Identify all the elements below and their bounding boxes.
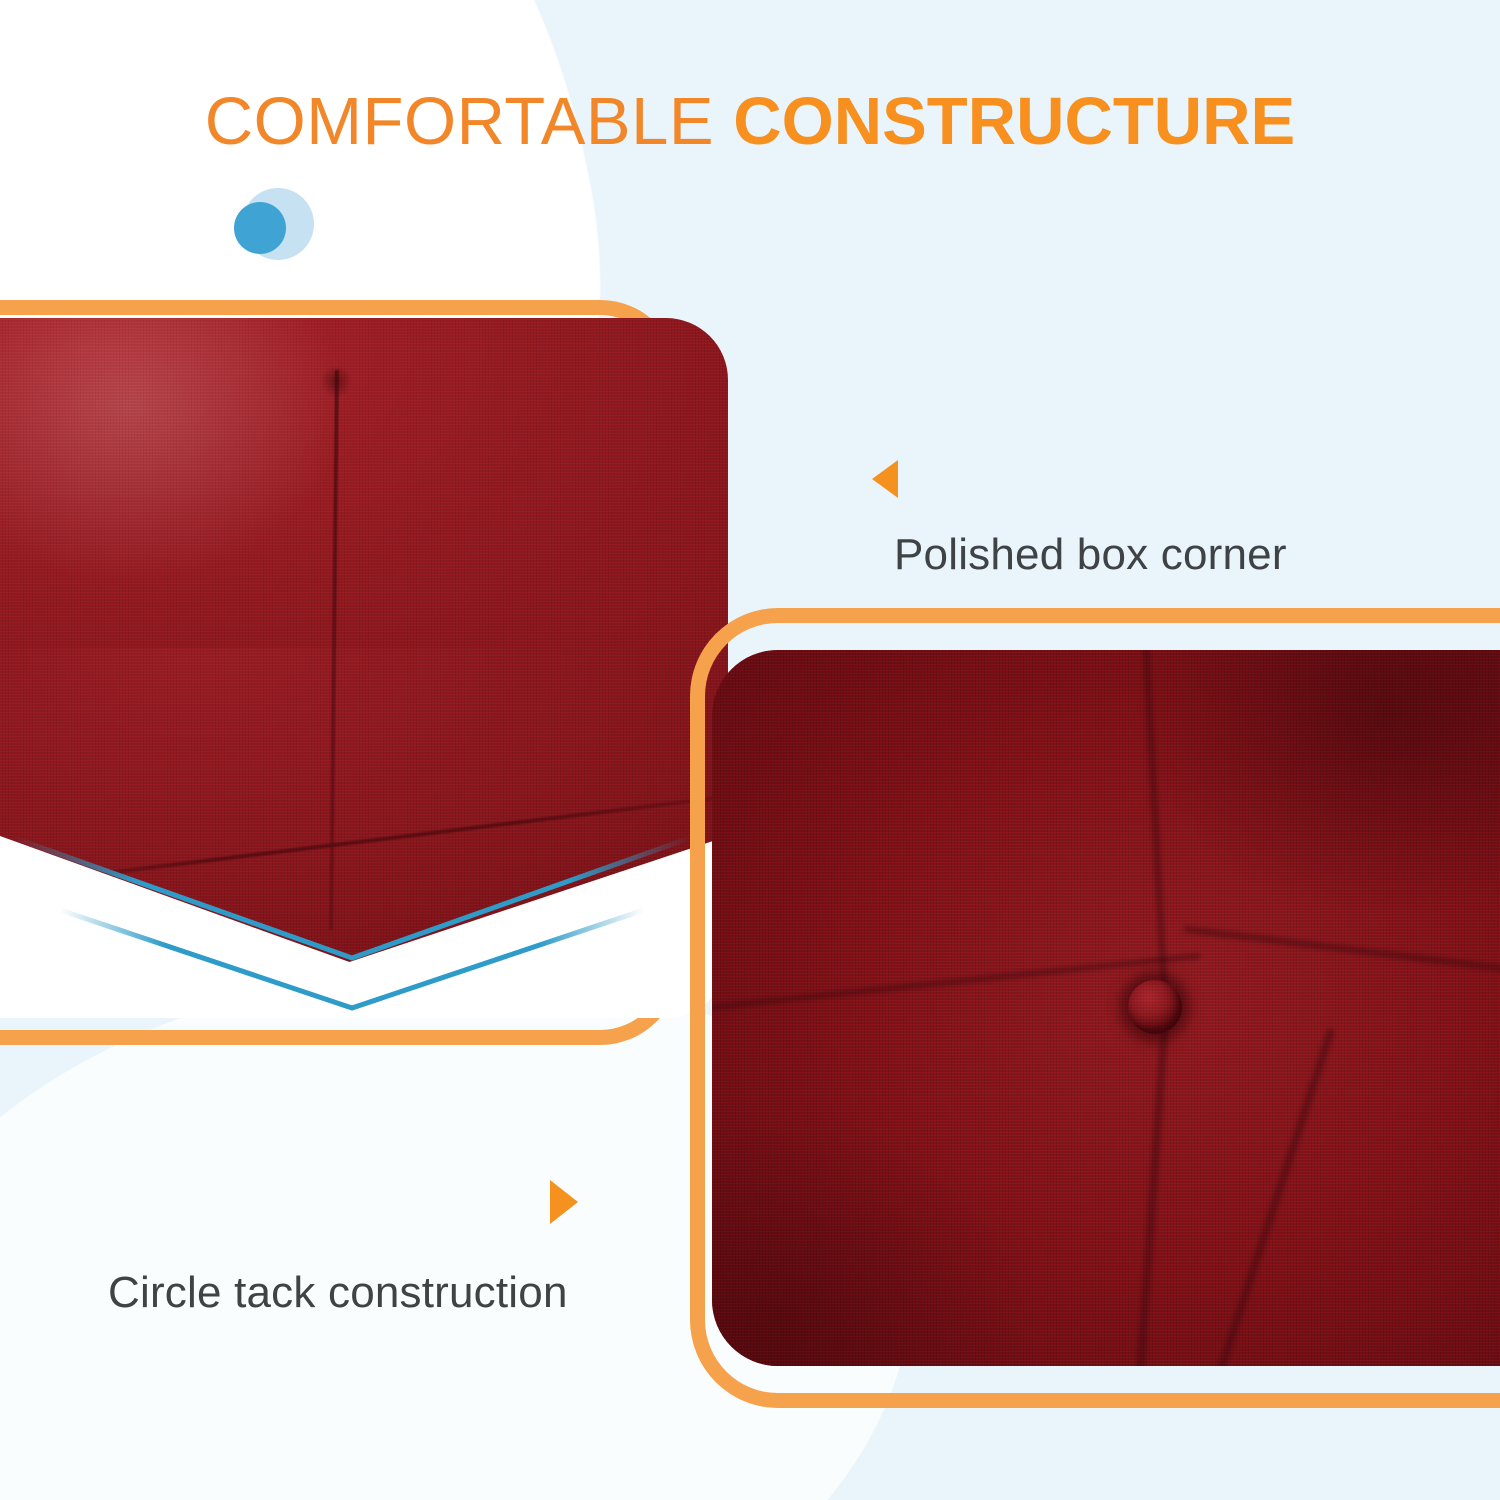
left-photo-image	[0, 318, 728, 1018]
polished-box-corner-photo	[0, 318, 728, 1018]
callout-circle-tack-construction-label: Circle tack construction	[108, 1268, 568, 1318]
callout-polished-box-corner-label: Polished box corner	[894, 530, 1287, 580]
triangle-right-icon	[550, 1180, 578, 1224]
page-title: COMFORTABLE CONSTRUCTURE	[0, 88, 1500, 155]
triangle-left-icon	[872, 460, 898, 498]
cushion-body	[0, 318, 728, 1018]
page-title-bold: CONSTRUCTURE	[733, 84, 1295, 159]
infographic-canvas: COMFORTABLE CONSTRUCTURE	[0, 0, 1500, 1500]
callout-polished-box-corner: Polished box corner	[872, 460, 898, 498]
header: COMFORTABLE CONSTRUCTURE	[0, 88, 1500, 198]
page-title-thin: COMFORTABLE	[205, 84, 714, 159]
fabric-weave-texture	[0, 318, 728, 1018]
fabric-weave-texture-right	[712, 650, 1500, 1366]
circle-tack-construction-photo	[712, 650, 1500, 1366]
